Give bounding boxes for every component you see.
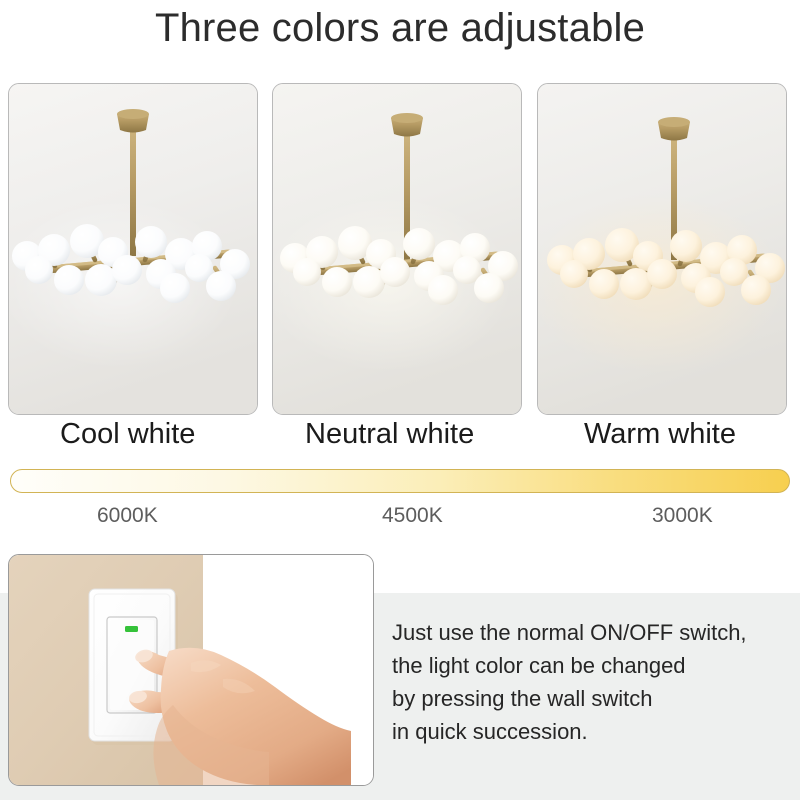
wall-switch-photo[interactable] [8,554,374,786]
label-warm-white: Warm white [584,418,736,451]
caption-line-2: the light color can be changed [392,649,792,682]
chandelier-panel-cool-white[interactable] [8,83,258,415]
caption-line-4: in quick succession. [392,715,792,748]
color-temperature-gradient-bar [10,469,790,493]
chandelier-panel-neutral-white[interactable] [272,83,522,415]
kelvin-label-row: 6000K 4500K 3000K [0,504,800,534]
chandelier-icon [538,84,786,414]
page-title: Three colors are adjustable [0,6,800,51]
label-cool-white: Cool white [60,418,195,451]
chandelier-panel-warm-white[interactable] [537,83,787,415]
caption-line-1: Just use the normal ON/OFF switch, [392,616,792,649]
caption-line-3: by pressing the wall switch [392,682,792,715]
chandelier-panel-group [8,83,792,413]
kelvin-6000k: 6000K [97,504,158,528]
label-neutral-white: Neutral white [305,418,474,451]
instruction-caption: Just use the normal ON/OFF switch, the l… [392,616,792,748]
wall-switch-illustration [9,555,373,785]
infographic-page: Three colors are adjustable [0,0,800,800]
chandelier-icon [273,84,521,414]
kelvin-4500k: 4500K [382,504,443,528]
switch-indicator-led [125,626,138,632]
chandelier-icon [9,84,257,414]
kelvin-3000k: 3000K [652,504,713,528]
color-label-row: Cool white Neutral white Warm white [8,418,792,460]
